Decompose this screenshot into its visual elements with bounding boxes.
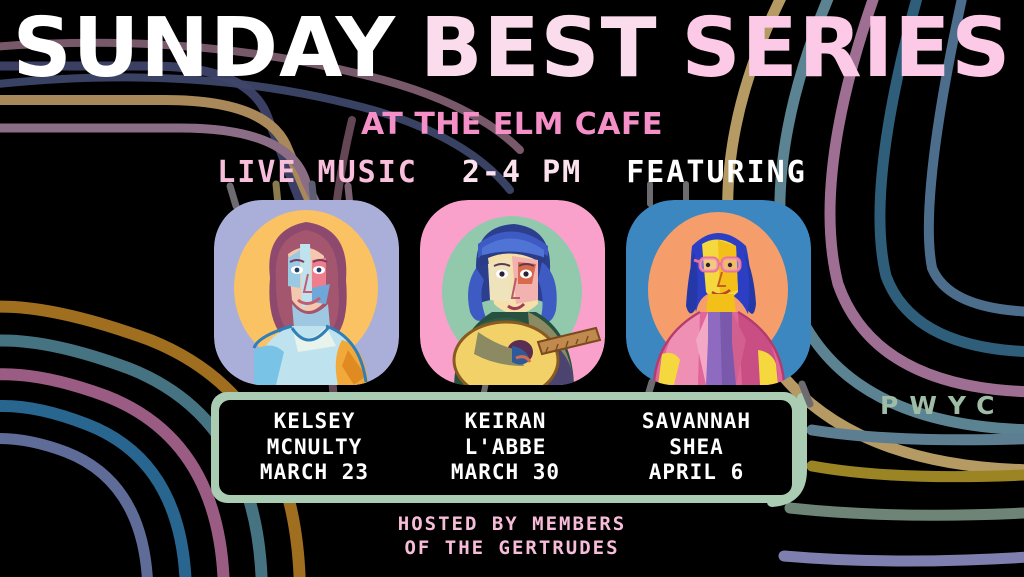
portrait-keiran-labbe xyxy=(420,200,605,385)
portrait-kelsey-mcnulty xyxy=(214,200,399,385)
venue-subtitle: AT THE ELM CAFE xyxy=(0,107,1024,142)
pwyc-label: PWYC xyxy=(880,391,1005,420)
host-credit: HOSTED BY MEMBERS OF THE GERTRUDES xyxy=(0,512,1024,561)
title-word-sunday: SUNDAY xyxy=(13,8,396,90)
act-1-date: MARCH 23 xyxy=(219,460,410,486)
act-3-first-name: SAVANNAH xyxy=(601,409,792,435)
lineup-act-1: KELSEY MCNULTY MARCH 23 xyxy=(219,409,410,486)
tagline-time: 2-4 PM xyxy=(462,155,582,190)
poster-canvas: SUNDAYBESTSERIES AT THE ELM CAFE LIVE MU… xyxy=(0,0,1024,577)
poster-title: SUNDAYBESTSERIES xyxy=(0,8,1024,90)
lineup-panel: KELSEY MCNULTY MARCH 23 KEIRAN L'ABBE MA… xyxy=(211,392,800,503)
tagline-featuring: FEATURING xyxy=(626,155,807,190)
act-2-first-name: KEIRAN xyxy=(410,409,601,435)
act-3-last-name: SHEA xyxy=(601,435,792,461)
host-credit-line-1: HOSTED BY MEMBERS xyxy=(0,512,1024,536)
act-3-date: APRIL 6 xyxy=(601,460,792,486)
act-1-first-name: KELSEY xyxy=(219,409,410,435)
title-word-series: SERIES xyxy=(682,8,1012,90)
lineup-act-3: SAVANNAH SHEA APRIL 6 xyxy=(601,409,792,486)
act-2-last-name: L'ABBE xyxy=(410,435,601,461)
title-word-best: BEST xyxy=(420,8,658,90)
host-credit-line-2: OF THE GERTRUDES xyxy=(0,536,1024,560)
portrait-gallery xyxy=(0,200,1024,385)
lineup-panel-inner: KELSEY MCNULTY MARCH 23 KEIRAN L'ABBE MA… xyxy=(219,400,792,495)
act-1-last-name: MCNULTY xyxy=(219,435,410,461)
act-2-date: MARCH 30 xyxy=(410,460,601,486)
tagline-live-music: LIVE MUSIC xyxy=(217,155,418,190)
tagline-row: LIVE MUSIC 2-4 PM FEATURING xyxy=(0,155,1024,190)
portrait-savannah-shea xyxy=(626,200,811,385)
lineup-act-2: KEIRAN L'ABBE MARCH 30 xyxy=(410,409,601,486)
